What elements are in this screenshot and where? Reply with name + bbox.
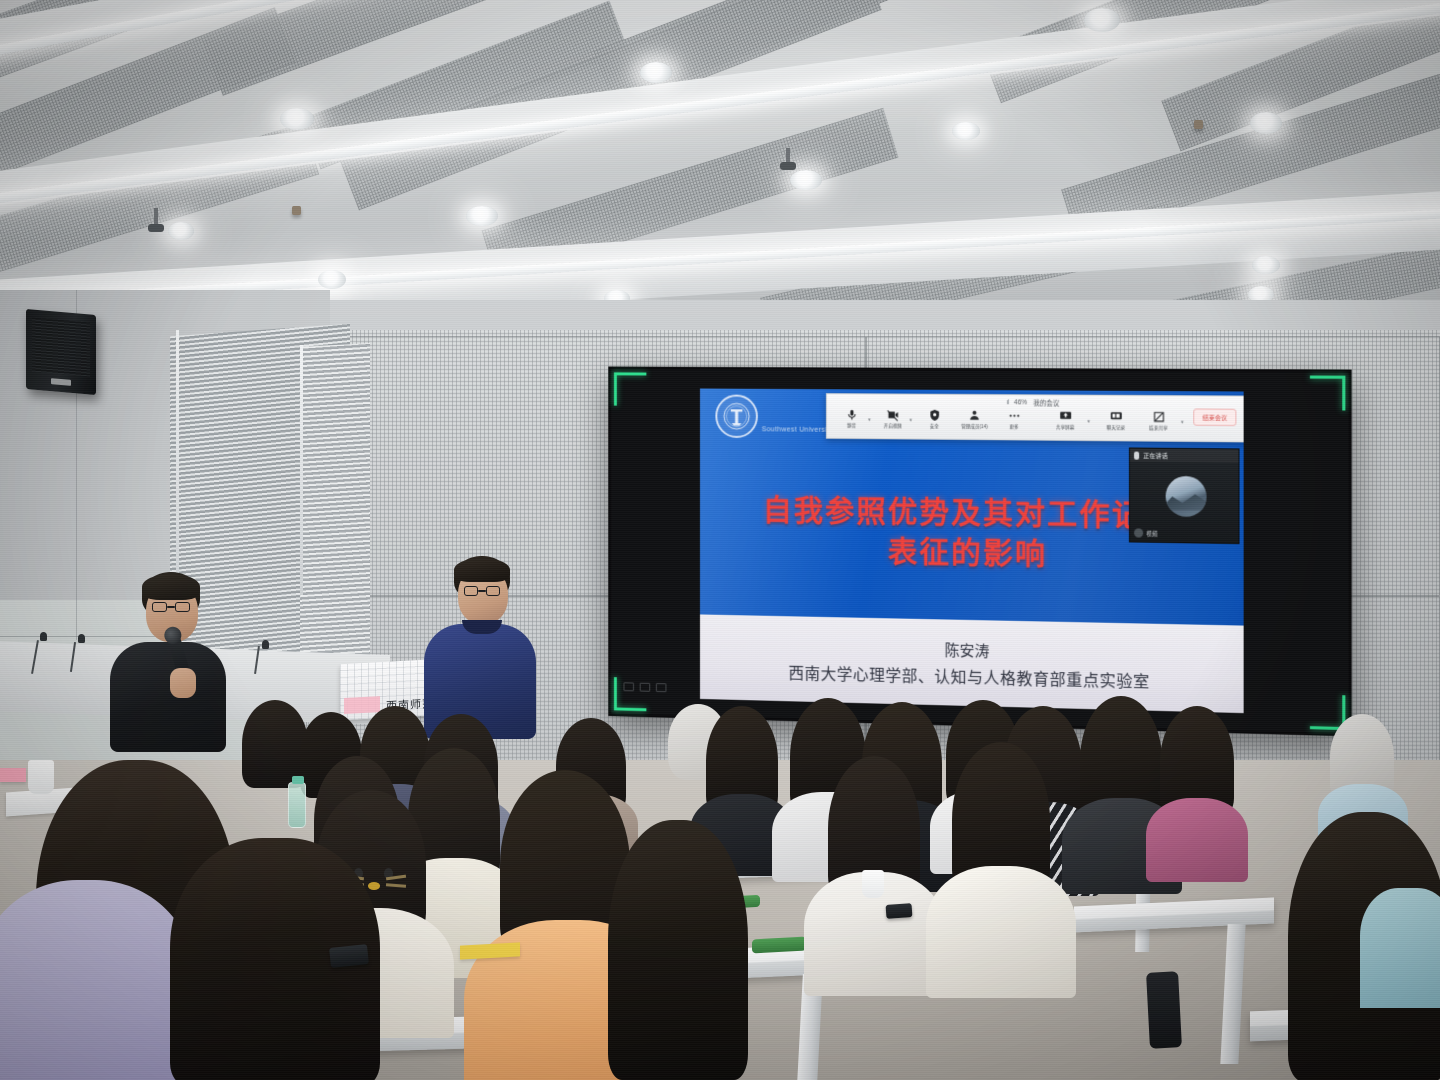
table-microphone-head [40,632,47,641]
audience-member-foreground [1360,848,1440,988]
microphone-icon [844,407,859,421]
toolbar-mute-button[interactable]: 静音 [835,407,868,429]
toolbar-video-button[interactable]: 开启视频 [876,407,910,429]
paper-cup [862,870,884,898]
toolbar-participants-button[interactable]: 管理成员(14) [951,408,997,430]
screen-corner-marker-top-right [1310,376,1345,411]
chevron-down-icon[interactable]: ▾ [1087,418,1095,424]
sprinkler-head [292,206,301,215]
audience-member-foreground [608,820,748,1080]
toolbar-stop-share-button[interactable]: 结束共享 [1136,409,1181,432]
downlight [1250,112,1282,134]
chat-icon [1108,409,1123,423]
video-tile-footer-label: 视频 [1146,529,1157,537]
ceiling-sensor [148,224,164,232]
menu-icon[interactable] [624,682,634,691]
host-body [110,642,226,752]
downlight [640,62,672,83]
audience-member [706,706,778,816]
water-bottle [288,782,306,828]
presentation-display[interactable]: Southwest University Faculty of Psycholo… [608,366,1351,736]
toolbar-chat-label: 聊天记录 [1106,424,1125,431]
toolbar-more-button[interactable]: 更多 [997,408,1031,430]
power-icon[interactable] [640,683,650,692]
host-with-microphone [108,572,238,732]
presenter-glasses [464,586,500,596]
display-control-buttons[interactable] [624,682,667,692]
video-tile-footer: 视频 [1134,528,1157,537]
table-microphone-head [262,640,269,649]
toolbar-more-label: 更多 [1009,424,1018,431]
meeting-toolbar-items[interactable]: 静音 ▾ 开启视频 ▾ 安全 [835,407,1237,432]
stop-share-icon [1151,409,1166,423]
audience-member [1160,706,1234,818]
more-dots-icon [1006,408,1021,422]
downlight [168,222,194,240]
shared-slide: Southwest University Faculty of Psycholo… [700,388,1244,713]
bottle-cap [292,776,304,784]
meeting-name-label: 我的会议 [1033,397,1059,407]
video-participant-tile[interactable]: 正在讲话 视频 [1129,447,1240,544]
blind-cord [300,345,303,595]
video-tile-status-label: 正在讲话 [1143,451,1167,460]
source-icon[interactable] [656,683,667,692]
chair-backrest [1146,971,1182,1049]
share-screen-icon [1058,409,1073,423]
hair [608,820,748,1080]
ceiling-sensor [780,162,796,170]
speaker-grille [32,317,90,376]
audience-member [242,700,308,788]
standing-presenter [424,556,542,721]
smartphone [329,944,369,968]
downlight [1252,256,1280,274]
participants-icon [967,408,982,422]
toolbar-video-label: 开启视频 [884,423,902,430]
presenter-hair-top [454,558,510,582]
toolbar-share-label: 共享屏幕 [1056,424,1075,431]
toolbar-share-screen-button[interactable]: 共享屏幕 [1043,408,1087,430]
audience-member [1330,714,1394,800]
signal-icon: ıl [1007,399,1008,406]
audience-member [952,742,1050,898]
smartphone [886,903,913,919]
video-icon [1134,528,1143,537]
speaker-brand-badge [51,378,71,386]
ceiling-sensor-stem [786,148,790,162]
end-meeting-button[interactable]: 结束会议 [1193,408,1236,426]
camera-off-icon [885,407,900,421]
shoulders [0,880,196,1080]
hair [242,700,308,788]
downlight [1084,8,1120,32]
battery-label: 46% [1014,399,1027,406]
mountain-avatar-icon [1166,476,1207,517]
shoulders [1146,798,1248,882]
toolbar-participants-label: 管理成员(14) [961,423,987,430]
screen-corner-marker-top-left [614,372,646,405]
pink-note [0,768,26,782]
host-hair-top [142,574,200,600]
host-hand [170,668,196,698]
university-crest-icon [715,394,757,438]
ceiling-sensor-stem [154,208,158,224]
blind-cord [176,330,179,610]
toolbar-chat-button[interactable]: 聊天记录 [1095,409,1136,432]
sprinkler-head [1194,120,1203,129]
microphone-icon [1134,451,1139,459]
video-tile-status-bar: 正在讲话 [1130,448,1239,462]
loudspeaker-icon [26,309,96,395]
host-glasses [152,602,190,612]
downlight [952,122,980,140]
shoulders [926,866,1076,998]
table-microphone-head [78,634,85,643]
chevron-down-icon[interactable]: ▾ [910,417,918,423]
shield-icon [927,408,942,422]
lecture-room-photo: Southwest University Faculty of Psycholo… [0,0,1440,1080]
avatar-mountain-shape [1166,492,1207,511]
audience-member-foreground [0,880,166,1080]
toolbar-security-button[interactable]: 安全 [917,408,951,430]
downlight [280,108,314,130]
toolbar-mute-label: 静音 [847,422,856,428]
audience-member [1080,696,1162,824]
meeting-toolbar[interactable]: ıl 46% 我的会议 静音 ▾ [826,393,1244,442]
toolbar-security-label: 安全 [930,423,939,429]
downlight [318,270,346,289]
chair-seat [752,937,806,954]
shoulders [1360,888,1440,1008]
chevron-down-icon[interactable]: ▾ [1181,419,1189,425]
window-blinds [300,343,370,667]
downlight [790,170,822,190]
toolbar-stop-share-label: 结束共享 [1149,425,1168,432]
chevron-down-icon[interactable]: ▾ [868,417,876,423]
downlight [466,206,498,226]
